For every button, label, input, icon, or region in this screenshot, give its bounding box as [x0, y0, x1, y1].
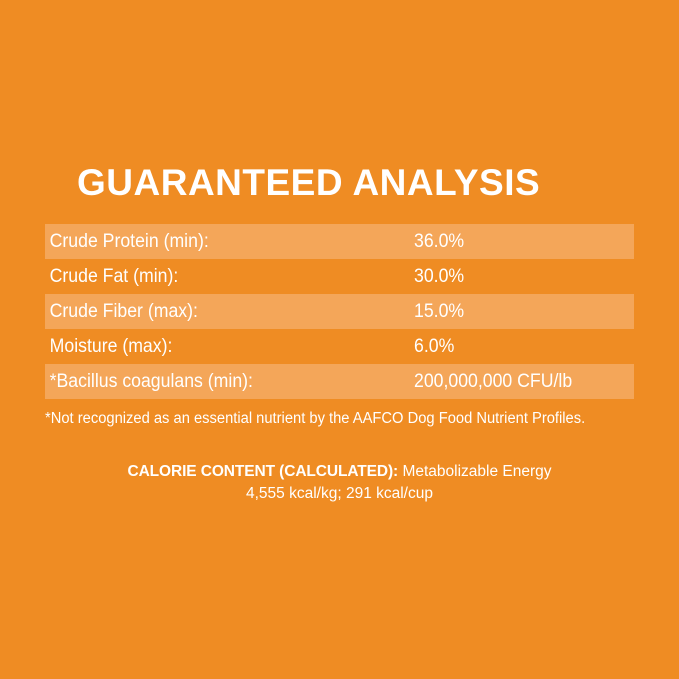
- table-row: Moisture (max): 6.0%: [45, 329, 634, 364]
- footnote-text: *Not recognized as an essential nutrient…: [45, 409, 615, 429]
- table-row: Crude Fiber (max): 15.0%: [45, 294, 634, 329]
- nutrient-label: Crude Fiber (max):: [45, 301, 388, 323]
- table-row: Crude Fat (min): 30.0%: [45, 259, 634, 294]
- nutrient-label: Crude Fat (min):: [45, 266, 388, 288]
- calorie-energy-type: Metabolizable Energy: [402, 463, 551, 480]
- nutrient-value: 15.0%: [414, 301, 464, 323]
- calorie-content-label: CALORIE CONTENT (CALCULATED):: [128, 463, 399, 480]
- nutrient-value: 36.0%: [414, 231, 464, 253]
- guaranteed-analysis-panel: GUARANTEED ANALYSIS Crude Protein (min):…: [0, 0, 679, 679]
- calorie-content-block: CALORIE CONTENT (CALCULATED): Metaboliza…: [0, 461, 679, 505]
- nutrient-value: 30.0%: [414, 266, 464, 288]
- nutrient-label: Moisture (max):: [45, 336, 388, 358]
- table-row: *Bacillus coagulans (min): 200,000,000 C…: [45, 364, 634, 399]
- guaranteed-analysis-table: Crude Protein (min): 36.0% Crude Fat (mi…: [45, 224, 634, 399]
- nutrient-label: *Bacillus coagulans (min):: [45, 371, 388, 393]
- page-title: GUARANTEED ANALYSIS: [77, 162, 637, 204]
- nutrient-value: 200,000,000 CFU/lb: [414, 371, 572, 393]
- table-row: Crude Protein (min): 36.0%: [45, 224, 634, 259]
- calorie-values: 4,555 kcal/kg; 291 kcal/cup: [0, 483, 679, 505]
- calorie-content-heading-line: CALORIE CONTENT (CALCULATED): Metaboliza…: [0, 461, 679, 483]
- nutrient-value: 6.0%: [414, 336, 454, 358]
- nutrient-label: Crude Protein (min):: [45, 231, 388, 253]
